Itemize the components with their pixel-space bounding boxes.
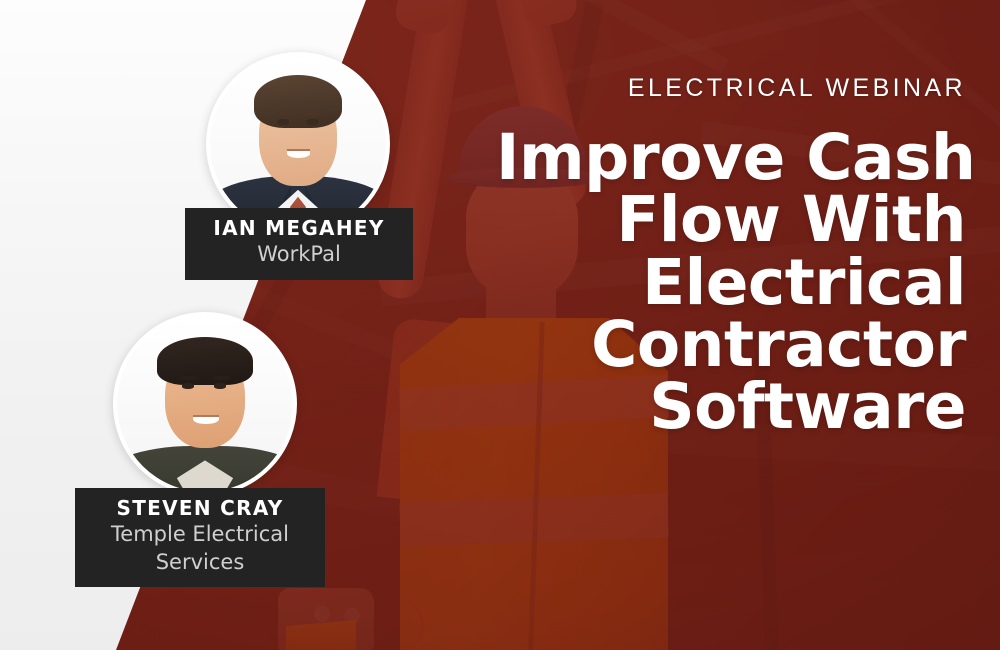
avatar-eye-right <box>307 119 319 125</box>
avatar-brow-left <box>180 376 198 380</box>
speaker-2-name: STEVEN CRAY <box>89 497 311 520</box>
headline-line-3: Electrical <box>496 252 966 314</box>
speaker-1-name: IAN MEGAHEY <box>199 217 399 240</box>
avatar-brow-right <box>305 112 321 116</box>
speaker-1-organization: WorkPal <box>199 242 399 268</box>
headline-block: ELECTRICAL WEBINAR Improve Cash Flow Wit… <box>496 76 966 439</box>
headline-line-4: Contractor <box>496 314 966 376</box>
avatar-eye-left <box>277 119 289 125</box>
speaker-2-organization-line-2: Services <box>89 550 311 576</box>
avatar-brow-right <box>212 376 230 380</box>
speaker-2-organization-line-1: Temple Electrical <box>89 522 311 548</box>
eyebrow-label: ELECTRICAL WEBINAR <box>496 76 966 101</box>
page-title: Improve Cash Flow With Electrical Contra… <box>496 127 966 439</box>
avatar-brow-left <box>275 112 291 116</box>
name-plate-speaker-2: STEVEN CRAY Temple Electrical Services <box>75 488 325 587</box>
webinar-promo-banner: ELECTRICAL WEBINAR Improve Cash Flow Wit… <box>0 0 1000 650</box>
headline-line-2: Flow With <box>496 189 966 251</box>
avatar-speaker-2 <box>113 312 297 496</box>
headline-line-1: Improve Cash <box>496 127 966 189</box>
name-plate-speaker-1: IAN MEGAHEY WorkPal <box>185 208 413 280</box>
avatar-eye-right <box>214 383 226 389</box>
avatar-hair <box>157 337 252 385</box>
avatar-hair <box>254 75 342 128</box>
avatar-eye-left <box>182 383 194 389</box>
headline-line-5: Software <box>496 376 966 438</box>
